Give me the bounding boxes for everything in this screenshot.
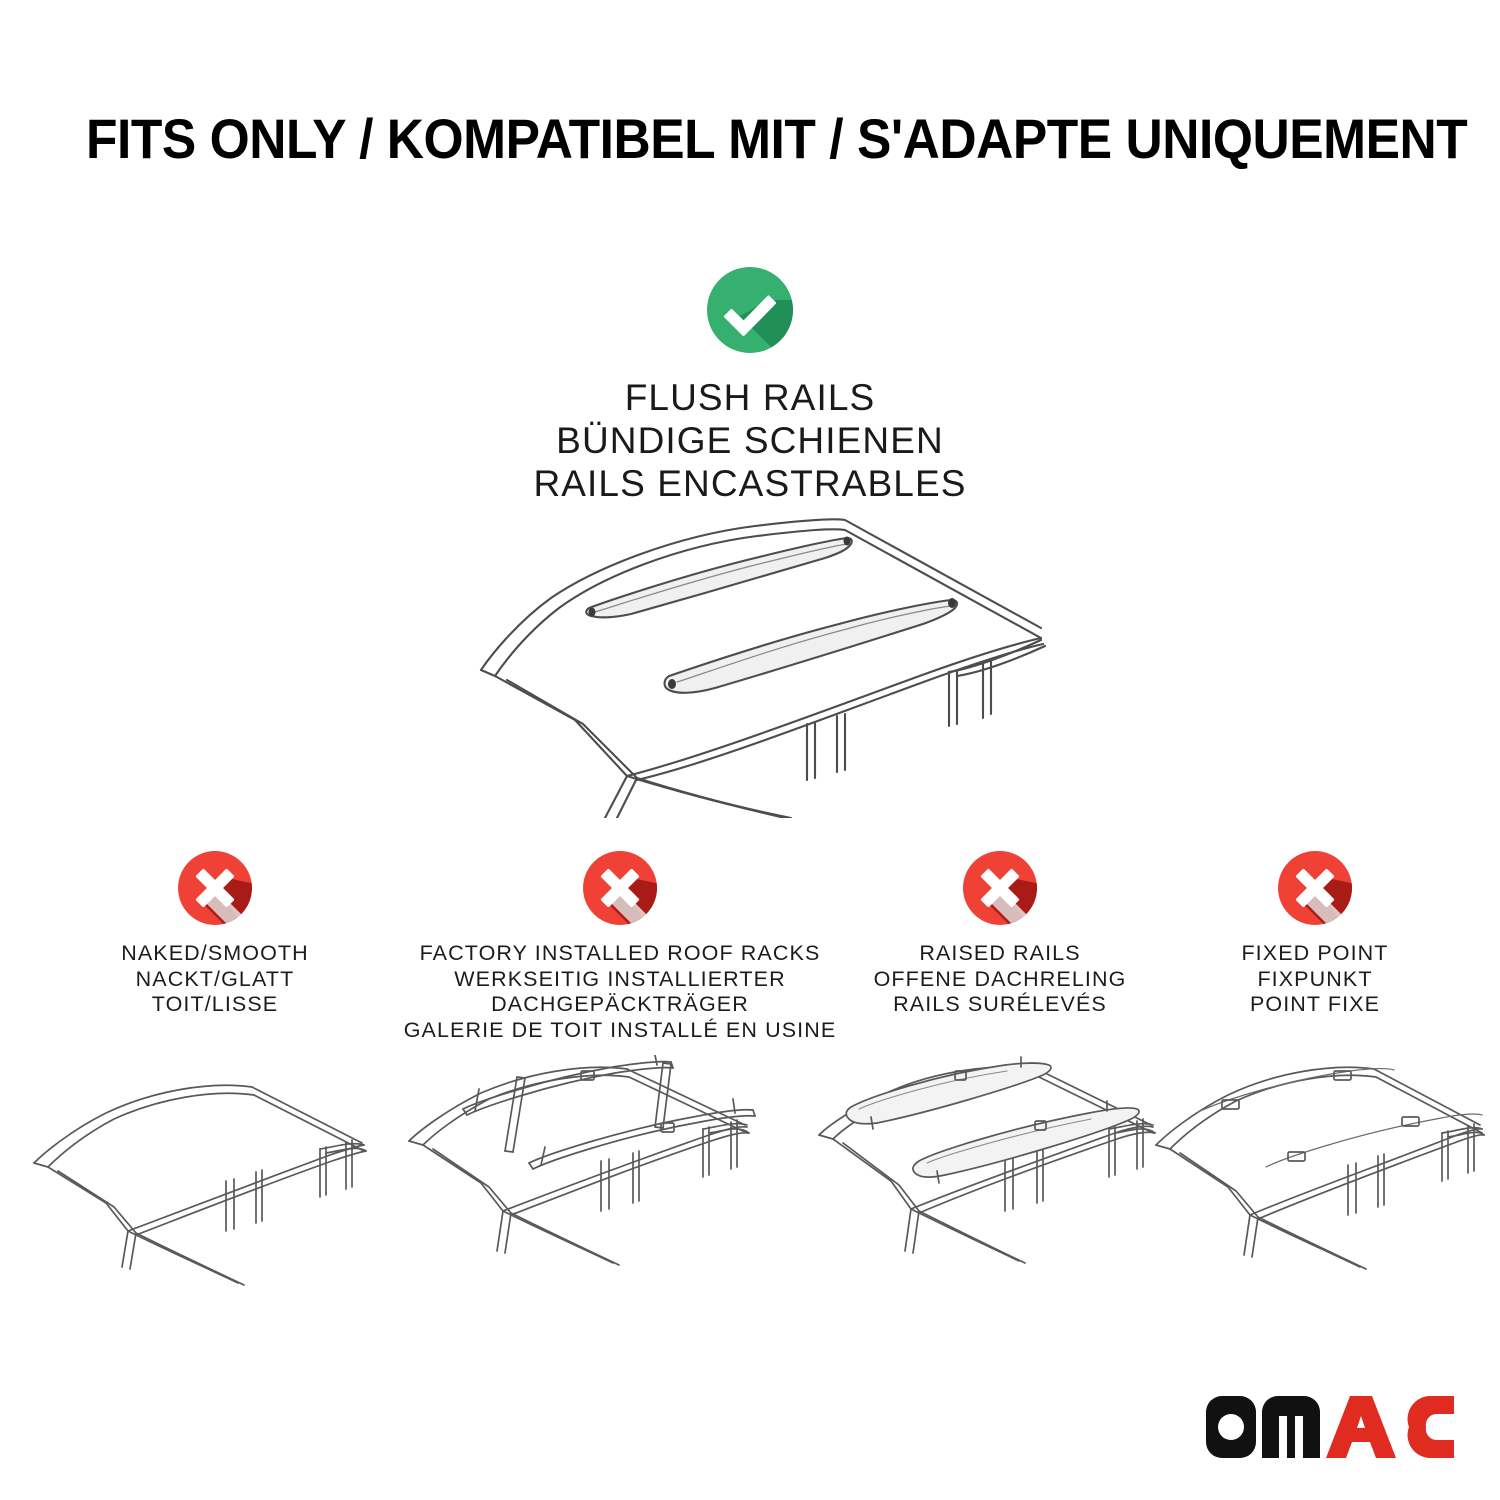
cross-circle-badge <box>957 845 1043 931</box>
incompatible-item-factory-roof-racks: FACTORY INSTALLED ROOF RACKS WERKSEITIG … <box>400 845 840 1043</box>
incompatible-labels: RAISED RAILS OFFENE DACHRELING RAILS SUR… <box>830 941 1170 1018</box>
compatible-labels: FLUSH RAILS BÜNDIGE SCHIENEN RAILS ENCAS… <box>0 376 1500 505</box>
incompatible-labels: FIXED POINT FIXPUNKT POINT FIXE <box>1170 941 1460 1018</box>
cross-circle-icon <box>172 845 258 931</box>
cross-circle-badge <box>1272 845 1358 931</box>
cross-circle-badge <box>172 845 258 931</box>
cross-circle-icon <box>577 845 663 931</box>
naked-smooth-roof-illustration <box>30 1055 380 1295</box>
flush-rails-roof-illustration <box>455 488 1055 818</box>
incompatible-label-line-3: RAILS SURÉLEVÉS <box>830 992 1170 1018</box>
fixed-point-illustration <box>1150 1055 1500 1295</box>
page-title: FITS ONLY / KOMPATIBEL MIT / S'ADAPTE UN… <box>86 108 1319 170</box>
cross-circle-badge <box>577 845 663 931</box>
incompatible-item-raised-rails: RAISED RAILS OFFENE DACHRELING RAILS SUR… <box>830 845 1170 1018</box>
incompatible-label-line-4: GALERIE DE TOIT INSTALLÉ EN USINE <box>400 1018 840 1044</box>
compatible-label-line-2: BÜNDIGE SCHIENEN <box>0 419 1500 462</box>
incompatible-label-line-2: NACKT/GLATT <box>60 967 370 993</box>
incompatible-label-line-3: TOIT/LISSE <box>60 992 370 1018</box>
car-roof-fixed-point-drawing <box>1150 1055 1500 1295</box>
incompatible-labels: NAKED/SMOOTH NACKT/GLATT TOIT/LISSE <box>60 941 370 1018</box>
car-roof-naked-drawing <box>30 1055 380 1295</box>
incompatible-item-naked-smooth: NAKED/SMOOTH NACKT/GLATT TOIT/LISSE <box>60 845 370 1018</box>
car-roof-flush-rails-drawing <box>455 488 1055 818</box>
incompatible-label-line-2: OFFENE DACHRELING <box>830 967 1170 993</box>
incompatible-label-line-3: DACHGEPÄCKTRÄGER <box>400 992 840 1018</box>
incompatible-label-line-1: RAISED RAILS <box>830 941 1170 967</box>
incompatible-labels: FACTORY INSTALLED ROOF RACKS WERKSEITIG … <box>400 941 840 1043</box>
omac-wordmark-icon <box>1206 1396 1454 1458</box>
cross-circle-icon <box>957 845 1043 931</box>
incompatible-label-line-2: FIXPUNKT <box>1170 967 1460 993</box>
incompatible-label-line-1: NAKED/SMOOTH <box>60 941 370 967</box>
car-roof-factory-racks-drawing <box>405 1055 780 1295</box>
incompatible-item-fixed-point: FIXED POINT FIXPUNKT POINT FIXE <box>1170 845 1460 1018</box>
check-circle-badge <box>700 260 800 360</box>
incompatible-label-line-3: POINT FIXE <box>1170 992 1460 1018</box>
cross-circle-icon <box>1272 845 1358 931</box>
raised-rails-illustration <box>815 1055 1190 1295</box>
check-circle-icon <box>700 260 800 360</box>
incompatible-label-line-1: FIXED POINT <box>1170 941 1460 967</box>
factory-roof-racks-illustration <box>405 1055 780 1295</box>
incompatible-label-line-1: FACTORY INSTALLED ROOF RACKS <box>400 941 840 967</box>
car-roof-raised-rails-drawing <box>815 1055 1190 1295</box>
omac-logo <box>1206 1396 1454 1458</box>
compatible-label-line-1: FLUSH RAILS <box>0 376 1500 419</box>
incompatible-label-line-2: WERKSEITIG INSTALLIERTER <box>400 967 840 993</box>
compatible-section: FLUSH RAILS BÜNDIGE SCHIENEN RAILS ENCAS… <box>0 260 1500 505</box>
